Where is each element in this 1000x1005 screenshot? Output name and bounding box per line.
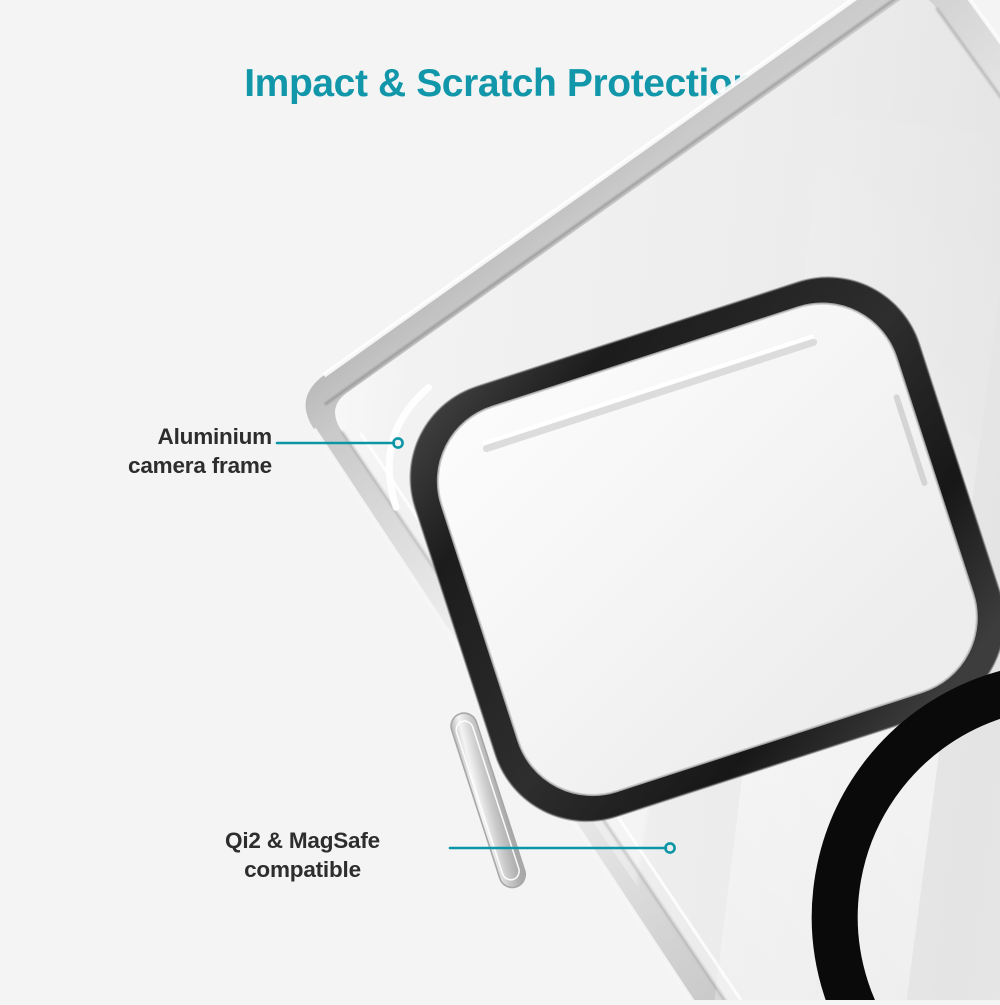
phone-case-illustration [0, 0, 1000, 1000]
product-image [0, 0, 1000, 1000]
callout-label-qi2-magsafe: Qi2 & MagSafe compatible [160, 827, 445, 885]
product-feature-graphic: Impact & Scratch Protection [0, 0, 1000, 1000]
callout-label-aluminium-camera-frame: Aluminium camera frame [0, 423, 272, 481]
